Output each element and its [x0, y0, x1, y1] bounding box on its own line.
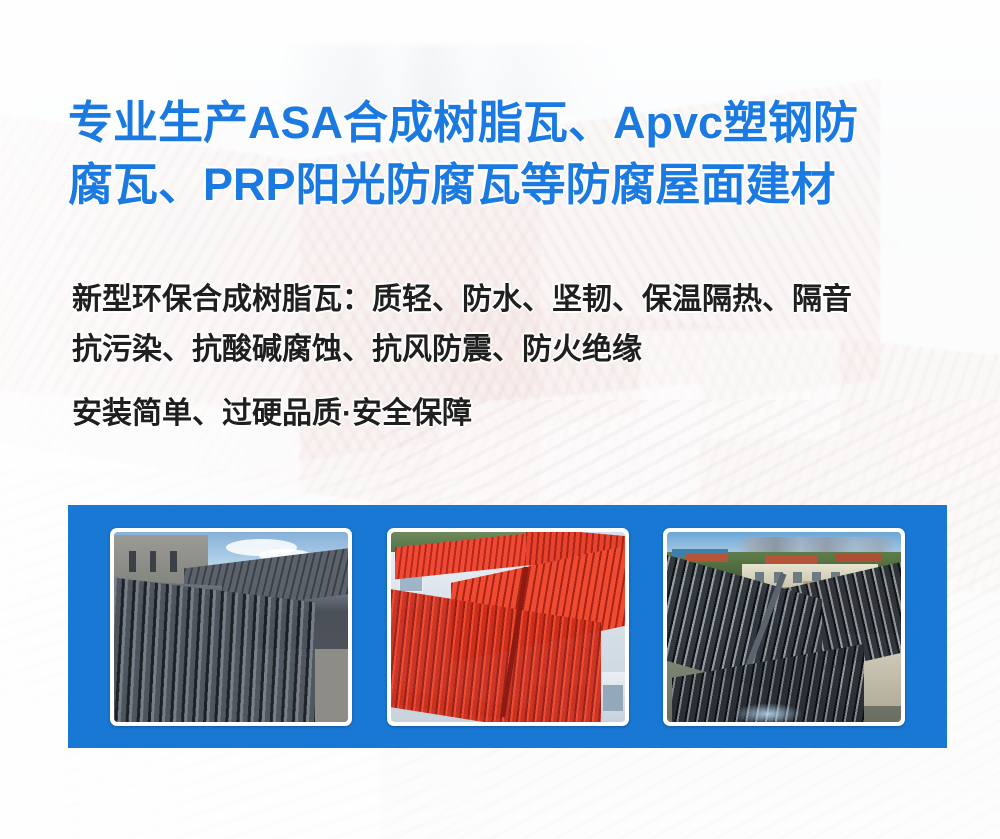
subcopy-line-3: 安装简单、过硬品质·安全保障 — [72, 389, 962, 439]
photo1-window-3 — [170, 551, 177, 572]
photo-frame-1[interactable] — [110, 528, 352, 726]
product-promo-banner: 专业生产ASA合成树脂瓦、Apvc塑钢防 腐瓦、PRP阳光防腐瓦等防腐屋面建材 … — [0, 0, 1000, 839]
headline: 专业生产ASA合成树脂瓦、Apvc塑钢防 腐瓦、PRP阳光防腐瓦等防腐屋面建材 — [68, 92, 948, 216]
photo-frame-3[interactable] — [663, 528, 905, 726]
photo-frame-2[interactable] — [387, 528, 629, 726]
banner-content: 专业生产ASA合成树脂瓦、Apvc塑钢防 腐瓦、PRP阳光防腐瓦等防腐屋面建材 … — [0, 0, 1000, 839]
photo3-lens-glare — [733, 703, 803, 722]
photo1-window-2 — [150, 551, 157, 572]
red-resin-tile-roof-photo — [391, 532, 625, 722]
subcopy: 新型环保合成树脂瓦：质轻、防水、坚韧、保温隔热、隔音 抗污染、抗酸碱腐蚀、抗风防… — [72, 275, 962, 439]
photo3-red-roof-2 — [765, 556, 816, 564]
headline-line-2: 腐瓦、PRP阳光防腐瓦等防腐屋面建材 — [68, 154, 948, 216]
headline-line-1: 专业生产ASA合成树脂瓦、Apvc塑钢防 — [68, 92, 948, 154]
photo2-window-h — [603, 685, 622, 711]
product-photo-gallery — [68, 505, 947, 748]
photo3-window-3 — [793, 572, 801, 583]
subcopy-line-1: 新型环保合成树脂瓦：质轻、防水、坚韧、保温隔热、隔音 — [72, 275, 962, 325]
photo3-red-roof-3 — [835, 554, 882, 562]
photo3-red-roof-1 — [686, 554, 728, 562]
photo1-window-1 — [129, 551, 136, 572]
grey-resin-tile-roof-photo — [114, 532, 348, 722]
black-resin-tile-roof-photo — [667, 532, 901, 722]
subcopy-line-2: 抗污染、抗酸碱腐蚀、抗风防震、防火绝缘 — [72, 325, 962, 375]
